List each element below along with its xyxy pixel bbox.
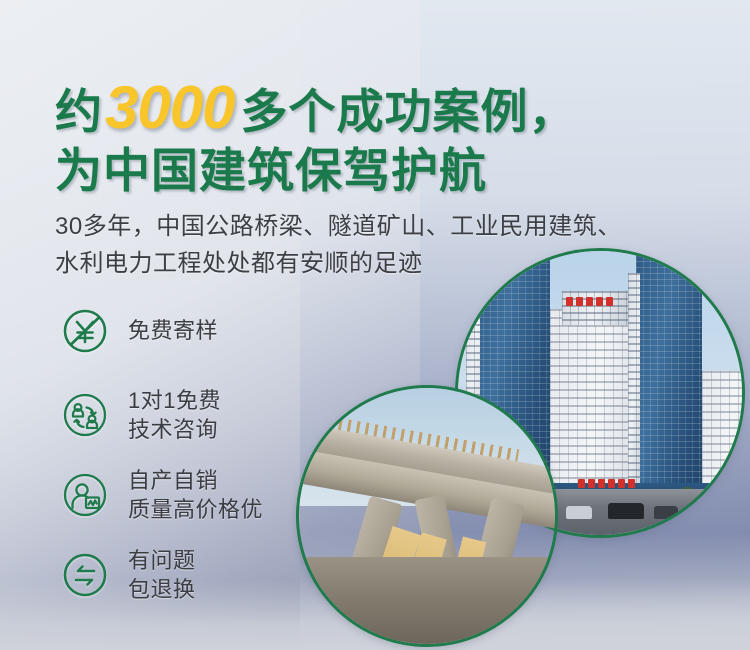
promo-banner: 约3000多个成功案例， 为中国建筑保驾护航 30多年，中国公路桥梁、隧道矿山、…	[0, 0, 750, 650]
feature-item-self-production: 自产自销 质量高价格优	[58, 464, 338, 526]
feature-item-free-sample: 免费寄样	[58, 300, 338, 362]
car-white-2	[566, 506, 592, 519]
subtitle-line-1: 30多年，中国公路桥梁、隧道矿山、工业民用建筑、	[55, 208, 715, 245]
headline-number: 3000	[103, 74, 240, 141]
feature-label-line-2: 质量高价格优	[128, 495, 263, 524]
feature-label-line-1: 有问题	[128, 548, 196, 573]
feature-label-line-2: 技术咨询	[128, 415, 221, 444]
two-people-exchange-icon	[58, 388, 112, 442]
no-fee-yen-icon	[58, 304, 112, 358]
podium-sign-red	[578, 479, 635, 488]
car-dark-2	[654, 506, 678, 519]
headline-line-1: 约3000多个成功案例，	[55, 78, 695, 138]
feature-label-line-2: 包退换	[128, 575, 196, 604]
rooftop-sign-red	[566, 297, 613, 306]
person-chart-icon	[58, 468, 112, 522]
feature-label-line-1: 自产自销	[128, 468, 218, 493]
headline: 约3000多个成功案例， 为中国建筑保驾护航	[55, 78, 695, 194]
feature-label: 免费寄样	[128, 316, 218, 345]
feature-item-return-exchange: 有问题 包退换	[58, 544, 338, 606]
feature-item-consulting: 1对1免费 技术咨询	[58, 384, 338, 446]
feature-label: 自产自销 质量高价格优	[128, 466, 263, 524]
headline-line-2: 为中国建筑保驾护航	[55, 147, 695, 194]
headline-prefix: 约	[55, 85, 103, 138]
exchange-arrows-icon	[58, 548, 112, 602]
feature-label-line-1: 免费寄样	[128, 318, 218, 343]
car-van-dark	[608, 503, 644, 519]
feature-label-line-1: 1对1免费	[128, 388, 221, 413]
headline-suffix: 多个成功案例，	[240, 85, 576, 138]
feature-label: 1对1免费 技术咨询	[128, 386, 221, 444]
feature-label: 有问题 包退换	[128, 546, 196, 604]
feature-list: 免费寄样 1对1免费 技术咨询	[58, 300, 338, 624]
